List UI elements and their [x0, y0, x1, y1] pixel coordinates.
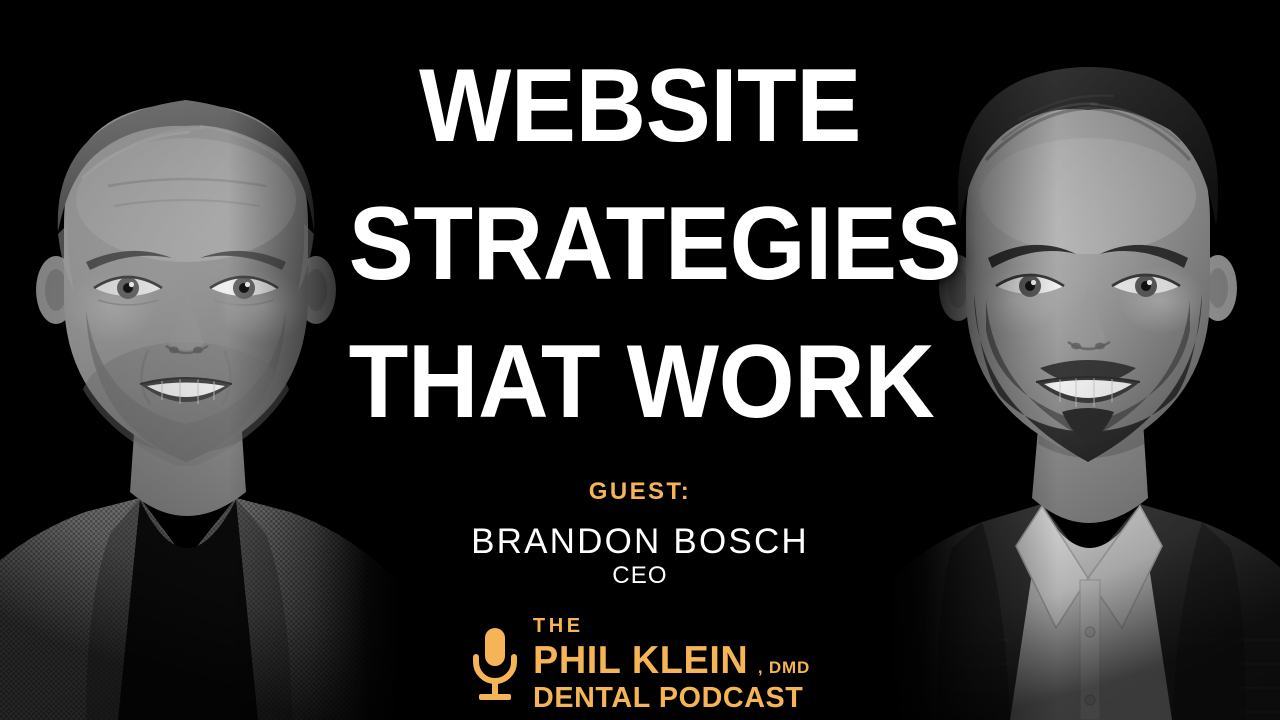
- logo-credential: , DMD: [758, 659, 810, 676]
- podcast-episode-thumbnail: WEBSITE STRATEGIES THAT WORK GUEST: BRAN…: [0, 0, 1280, 720]
- logo-text-block: THE PHIL KLEIN , DMD DENTAL PODCAST: [533, 616, 810, 713]
- microphone-icon: [470, 626, 520, 702]
- headline-line-1: WEBSITE: [349, 54, 932, 158]
- logo-subtitle: DENTAL PODCAST: [533, 684, 803, 713]
- podcast-logo: THE PHIL KLEIN , DMD DENTAL PODCAST: [330, 622, 950, 706]
- guest-role: CEO: [330, 562, 950, 590]
- logo-host-name: PHIL KLEIN: [533, 641, 748, 680]
- headline-line-3: THAT WORK: [349, 330, 932, 434]
- logo-the: THE: [533, 616, 584, 636]
- logo-name-row: PHIL KLEIN , DMD: [533, 641, 810, 680]
- center-content: WEBSITE STRATEGIES THAT WORK GUEST: BRAN…: [330, 0, 950, 720]
- guest-name: BRANDON BOSCH: [330, 522, 950, 562]
- headline-line-2: STRATEGIES: [349, 192, 932, 296]
- guest-label: GUEST:: [330, 478, 950, 506]
